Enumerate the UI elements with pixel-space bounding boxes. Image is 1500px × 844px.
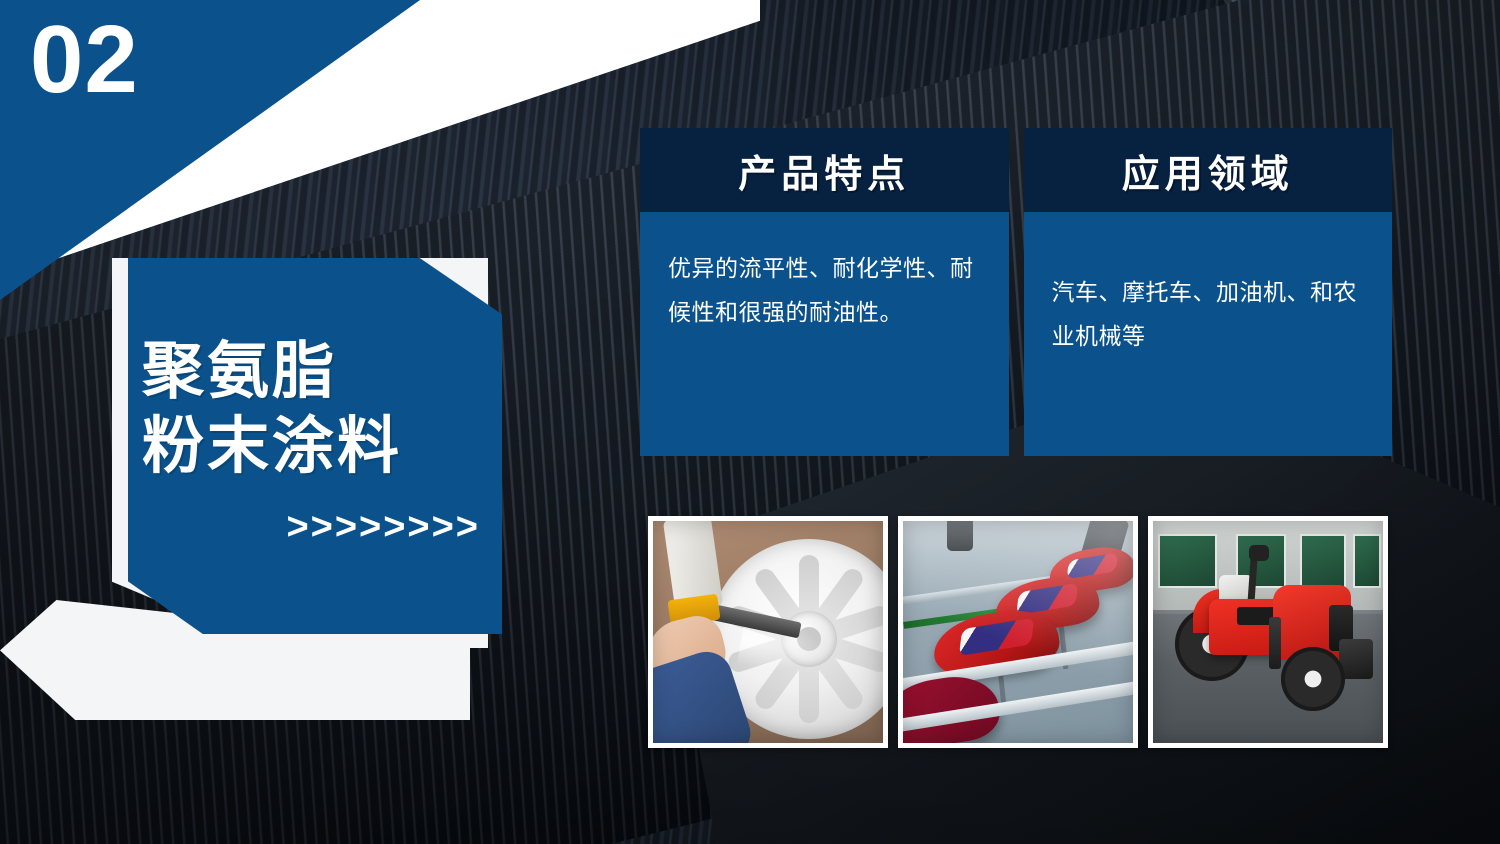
chevron-arrows-icon: >>>>>>>>: [128, 506, 502, 549]
spray-haze: [903, 521, 1133, 743]
tractor-front-wheel: [1281, 647, 1345, 711]
panel-body-product-features: 优异的流平性、耐化学性、耐候性和很强的耐油性。: [640, 212, 1009, 456]
photo-strip: [648, 516, 1388, 748]
photo-wheel-spray-image: [653, 521, 883, 743]
panel-heading-application-areas: 应用领域: [1024, 128, 1393, 212]
tractor-exhaust: [1269, 617, 1281, 669]
slide-root: 02 聚氨脂 粉末涂料 >>>>>>>> 产品特点 优异的流平性、耐化学性、耐候…: [0, 0, 1500, 844]
panel-heading-product-features: 产品特点: [640, 128, 1009, 212]
title-line-2: 粉末涂料: [128, 414, 502, 481]
window-1: [1158, 534, 1218, 587]
photo-tractor-image: [1153, 521, 1383, 743]
content-panels: 产品特点 优异的流平性、耐化学性、耐候性和很强的耐油性。 应用领域 汽车、摩托车…: [640, 128, 1392, 456]
photo-wheel-spray: [648, 516, 888, 748]
panel-product-features: 产品特点 优异的流平性、耐化学性、耐候性和很强的耐油性。: [640, 128, 1009, 456]
title-card: 聚氨脂 粉末涂料 >>>>>>>>: [128, 258, 502, 634]
title-line-1: 聚氨脂: [128, 339, 502, 406]
section-number: 02: [30, 12, 139, 108]
tractor-mirror: [1249, 545, 1269, 561]
window-3: [1300, 534, 1346, 587]
panel-body-application-areas: 汽车、摩托车、加油机、和农业机械等: [1024, 212, 1393, 456]
window-4: [1353, 534, 1381, 587]
panel-application-areas: 应用领域 汽车、摩托车、加油机、和农业机械等: [1024, 128, 1393, 456]
photo-paint-line-image: [903, 521, 1133, 743]
photo-paint-line: [898, 516, 1138, 748]
photo-tractor: [1148, 516, 1388, 748]
